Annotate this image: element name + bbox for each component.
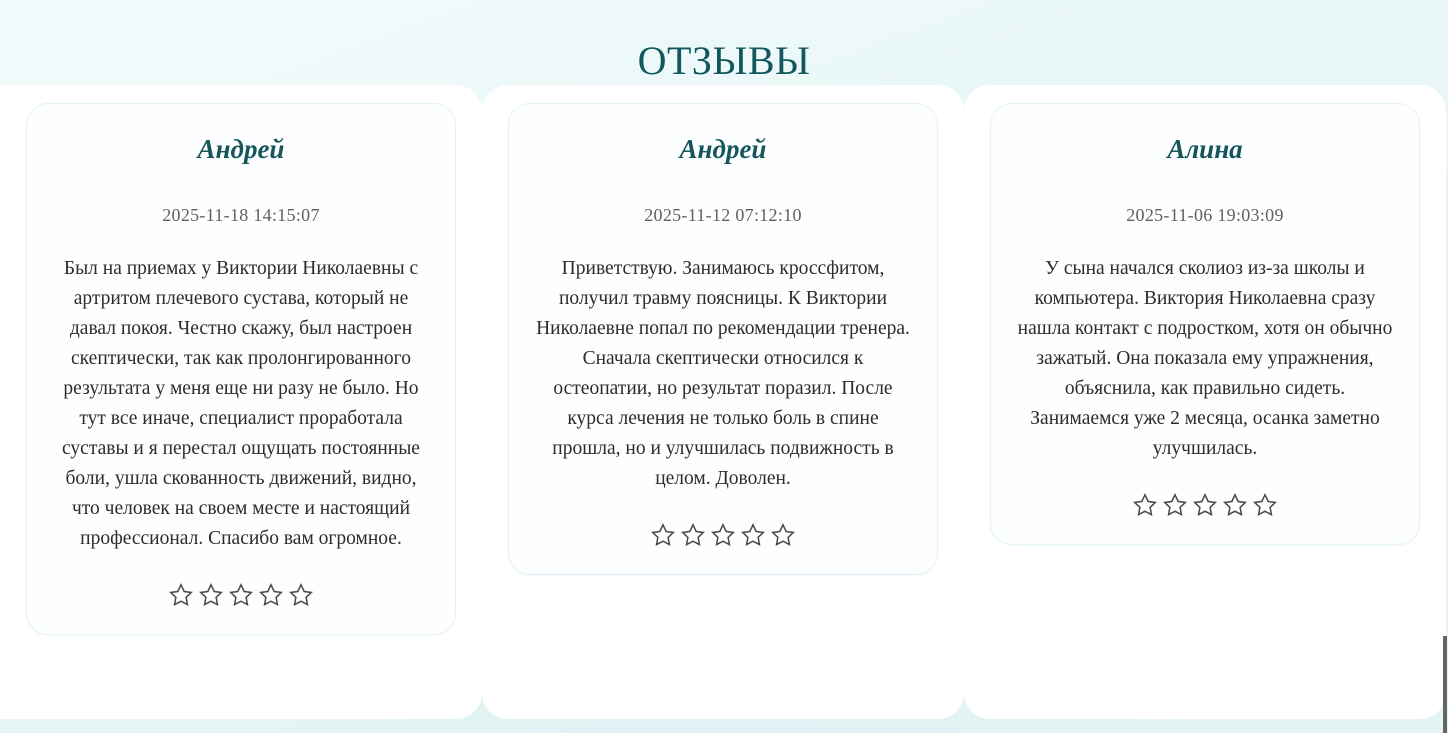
reviews-carousel[interactable]: Андрей 2025-11-18 14:15:07 Был на приема… — [0, 85, 1448, 719]
star-icon[interactable] — [1192, 492, 1218, 518]
review-author-name: Андрей — [51, 132, 431, 166]
review-date: 2025-11-18 14:15:07 — [51, 202, 431, 228]
star-icon[interactable] — [770, 522, 796, 548]
star-icon[interactable] — [1132, 492, 1158, 518]
rating-stars[interactable] — [1015, 492, 1395, 518]
review-card: Андрей 2025-11-18 14:15:07 Был на приема… — [26, 103, 456, 635]
review-author-name: Андрей — [533, 132, 913, 166]
star-icon[interactable] — [740, 522, 766, 548]
review-date: 2025-11-06 19:03:09 — [1015, 202, 1395, 228]
rating-stars[interactable] — [51, 582, 431, 608]
review-text: Приветствую. Занимаюсь кроссфитом, получ… — [533, 254, 913, 494]
review-author-name: Алина — [1015, 132, 1395, 166]
review-card: Андрей 2025-11-12 07:12:10 Приветствую. … — [508, 103, 938, 575]
review-slide: Андрей 2025-11-18 14:15:07 Был на приема… — [0, 85, 482, 719]
review-text: У сына начался сколиоз из-за школы и ком… — [1015, 254, 1395, 464]
star-icon[interactable] — [1252, 492, 1278, 518]
rating-stars[interactable] — [533, 522, 913, 548]
star-icon[interactable] — [228, 582, 254, 608]
star-icon[interactable] — [198, 582, 224, 608]
star-icon[interactable] — [680, 522, 706, 548]
page-title: ОТЗЫВЫ — [0, 33, 1448, 89]
star-icon[interactable] — [1162, 492, 1188, 518]
star-icon[interactable] — [258, 582, 284, 608]
star-icon[interactable] — [650, 522, 676, 548]
star-icon[interactable] — [710, 522, 736, 548]
star-icon[interactable] — [168, 582, 194, 608]
review-text: Был на приемах у Виктории Николаевны с а… — [51, 254, 431, 554]
page-scrollbar[interactable] — [1441, 0, 1448, 733]
star-icon[interactable] — [288, 582, 314, 608]
review-slide: Андрей 2025-11-12 07:12:10 Приветствую. … — [482, 85, 964, 719]
page-scrollbar-thumb[interactable] — [1443, 636, 1447, 733]
star-icon[interactable] — [1222, 492, 1248, 518]
review-card: Алина 2025-11-06 19:03:09 У сына начался… — [990, 103, 1420, 545]
review-date: 2025-11-12 07:12:10 — [533, 202, 913, 228]
review-slide: Алина 2025-11-06 19:03:09 У сына начался… — [964, 85, 1446, 719]
